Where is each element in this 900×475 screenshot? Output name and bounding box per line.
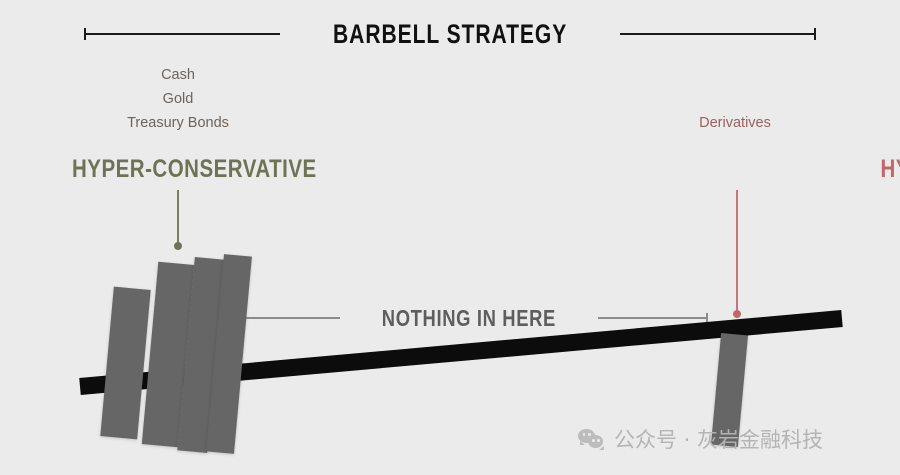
connector-dot-left (174, 242, 182, 250)
connector-dot-right (733, 310, 741, 318)
barbell-plate-left-1 (100, 287, 150, 440)
barbell-plate-right-1 (711, 333, 748, 447)
title-row: BARBELL STRATEGY (0, 14, 900, 54)
barbell-strategy-infographic: BARBELL STRATEGY Cash Gold Treasury Bond… (0, 0, 900, 475)
title-rule-left-cap (84, 28, 86, 40)
asset-item-cash: Cash (108, 63, 248, 87)
asset-item-gold: Gold (108, 87, 248, 111)
title-rule-right (620, 33, 816, 35)
watermark: 公众号 · 灰岩金融科技 (578, 424, 823, 454)
right-asset-list: Derivatives (620, 111, 850, 135)
left-asset-list: Cash Gold Treasury Bonds (108, 63, 248, 135)
middle-rule-left (230, 317, 340, 319)
heading-hyper-aggressive: HYPER-AGGRESSIVE (880, 155, 900, 184)
connector-line-left (177, 190, 179, 246)
middle-rule-right (598, 317, 708, 319)
connector-line-right (736, 190, 738, 314)
heading-hyper-conservative: HYPER-CONSERVATIVE (72, 155, 317, 184)
middle-label: NOTHING IN HERE (379, 305, 560, 332)
title-rule-left (84, 33, 280, 35)
asset-item-treasury-bonds: Treasury Bonds (108, 111, 248, 135)
asset-item-derivatives: Derivatives (620, 111, 850, 135)
title-rule-right-cap (814, 28, 816, 40)
wechat-icon (578, 428, 606, 450)
page-title: BARBELL STRATEGY (331, 19, 568, 50)
